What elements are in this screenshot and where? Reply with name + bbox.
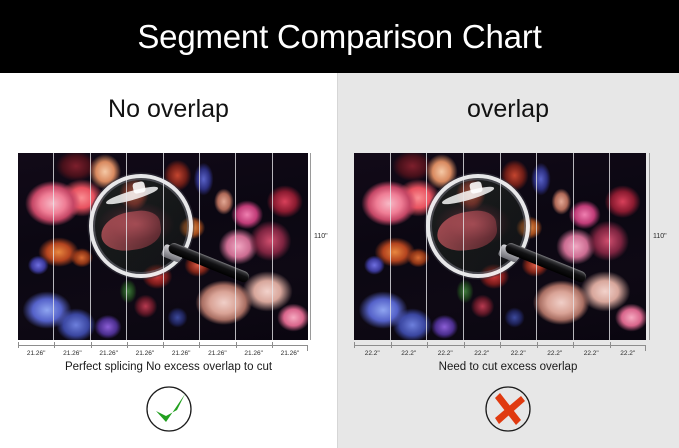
tick-endcap <box>645 345 646 351</box>
lens-glare-streak <box>441 184 495 207</box>
caption-left: Perfect splicing No excess overlap to cu… <box>0 361 337 373</box>
segment-width-label: 22.2" <box>464 342 501 357</box>
mural-photo-right <box>354 153 646 340</box>
green-check-icon <box>144 384 194 434</box>
segment-width-label: 22.2" <box>610 342 647 357</box>
segment-width-label: 21.26" <box>18 342 54 357</box>
segment-width-label: 21.26" <box>54 342 90 357</box>
panels-container: No overlap 110" <box>0 73 679 448</box>
title-bar: Segment Comparison Chart <box>0 0 679 73</box>
mural-preview-right: 22.2" 22.2" 22.2" 22.2" 22.2" 22.2" 22.2… <box>354 153 646 340</box>
panel-divider <box>337 73 338 448</box>
red-cross-icon <box>483 384 533 434</box>
segment-width-ticks-right: 22.2" 22.2" 22.2" 22.2" 22.2" 22.2" 22.2… <box>354 342 646 357</box>
comparison-chart-page: Segment Comparison Chart No overlap 110" <box>0 0 679 448</box>
segment-width-label: 22.2" <box>500 342 537 357</box>
magnified-petal <box>98 208 162 254</box>
lens-glare-streak <box>104 184 158 207</box>
magnified-petal <box>435 208 499 254</box>
caption-right: Need to cut excess overlap <box>337 361 679 373</box>
segment-width-label: 21.26" <box>199 342 235 357</box>
tick-endcap <box>307 345 308 351</box>
height-rule-left <box>310 153 311 340</box>
height-rule-right <box>649 153 650 340</box>
segment-width-label: 21.26" <box>163 342 199 357</box>
panel-heading-left: No overlap <box>0 95 337 124</box>
panel-no-overlap: No overlap 110" <box>0 73 337 448</box>
panel-overlap: overlap 110" <box>337 73 679 448</box>
segment-width-ticks-left: 21.26" 21.26" 21.26" 21.26" 21.26" 21.26… <box>18 342 308 357</box>
height-label-left: 110" <box>314 233 328 240</box>
segment-width-label: 21.26" <box>91 342 127 357</box>
page-title: Segment Comparison Chart <box>0 0 679 73</box>
segment-width-label: 22.2" <box>391 342 428 357</box>
segment-width-label: 21.26" <box>127 342 163 357</box>
panel-heading-right: overlap <box>337 95 679 124</box>
segment-width-label: 22.2" <box>354 342 391 357</box>
segment-width-label: 22.2" <box>427 342 464 357</box>
mural-preview-left: 21.26" 21.26" 21.26" 21.26" 21.26" 21.26… <box>18 153 308 340</box>
mural-photo-left <box>18 153 308 340</box>
segment-width-label: 22.2" <box>537 342 574 357</box>
height-label-right: 110" <box>653 233 667 240</box>
segment-width-label: 22.2" <box>573 342 610 357</box>
segment-width-label: 21.26" <box>272 342 308 357</box>
segment-width-label: 21.26" <box>236 342 272 357</box>
